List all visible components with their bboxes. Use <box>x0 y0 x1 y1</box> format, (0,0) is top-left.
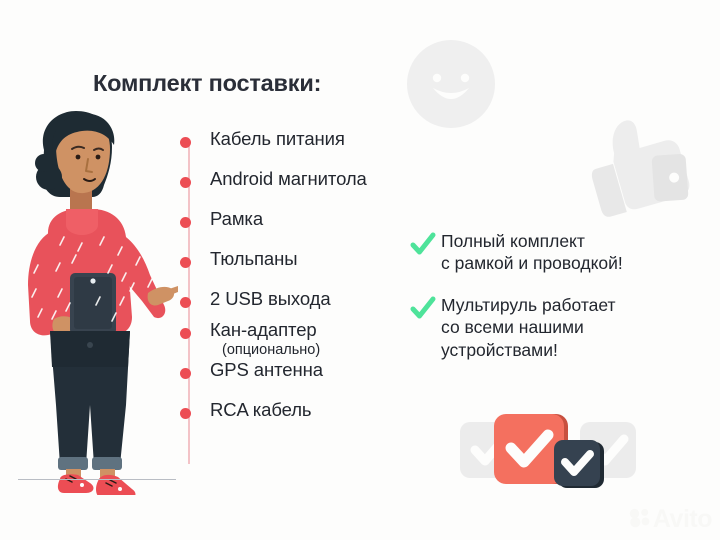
page-title: Комплект поставки: <box>93 70 321 97</box>
benefit-line-2: с рамкой и проводкой! <box>441 253 623 273</box>
list-item: GPS антенна <box>180 361 440 401</box>
bullet-dot-icon <box>180 408 191 419</box>
list-item-label: RCA кабель <box>210 401 311 420</box>
list-item-label: Android магнитола <box>210 170 367 189</box>
list-item: Android магнитола <box>180 170 440 210</box>
check-squares-icon <box>458 408 638 494</box>
person-pointing-illustration <box>8 105 178 495</box>
list-item-label: 2 USB выхода <box>210 290 331 309</box>
avito-logo-icon <box>629 507 651 533</box>
benefit-item: Мультируль работает со всеми нашими устр… <box>410 294 616 361</box>
thumbs-up-icon <box>575 112 695 224</box>
green-check-icon <box>410 295 436 321</box>
bullet-dot-icon <box>180 368 191 379</box>
benefit-item: Полный комплект с рамкой и проводкой! <box>410 230 623 275</box>
list-item-label: Кабель питания <box>210 130 345 149</box>
benefit-line-1: Мультируль работает <box>441 295 616 315</box>
bullet-dot-icon <box>180 217 191 228</box>
smiley-face-icon <box>405 38 497 130</box>
bullet-dot-icon <box>180 328 191 339</box>
bullet-dot-icon <box>180 297 191 308</box>
list-item: Тюльпаны <box>180 250 440 290</box>
list-item-label: GPS антенна <box>210 361 323 380</box>
avito-brand-text: Avito <box>653 505 712 534</box>
list-item: Кабель питания <box>180 130 440 170</box>
kit-contents-list: Кабель питания Android магнитола Рамка Т… <box>180 130 440 441</box>
poster-canvas: Комплект поставки: Кабель питания Androi… <box>0 0 720 540</box>
benefit-line-1: Полный комплект <box>441 231 585 251</box>
list-item-label: Тюльпаны <box>210 250 297 269</box>
bullet-dot-icon <box>180 137 191 148</box>
list-item-label: Рамка <box>210 210 263 229</box>
benefit-line-3: устройствами! <box>441 340 558 360</box>
list-item: Кан-адаптер (опционально) <box>180 321 440 361</box>
ground-line <box>18 479 176 480</box>
list-item-label: Кан-адаптер <box>210 321 320 340</box>
green-check-icon <box>410 231 436 257</box>
avito-watermark: Avito <box>629 505 712 534</box>
bullet-dot-icon <box>180 177 191 188</box>
benefit-line-2: со всеми нашими <box>441 317 584 337</box>
list-item: 2 USB выхода <box>180 290 440 321</box>
bullet-dot-icon <box>180 257 191 268</box>
list-item-sublabel: (опционально) <box>222 343 320 358</box>
list-item: Рамка <box>180 210 440 250</box>
list-item: RCA кабель <box>180 401 440 441</box>
